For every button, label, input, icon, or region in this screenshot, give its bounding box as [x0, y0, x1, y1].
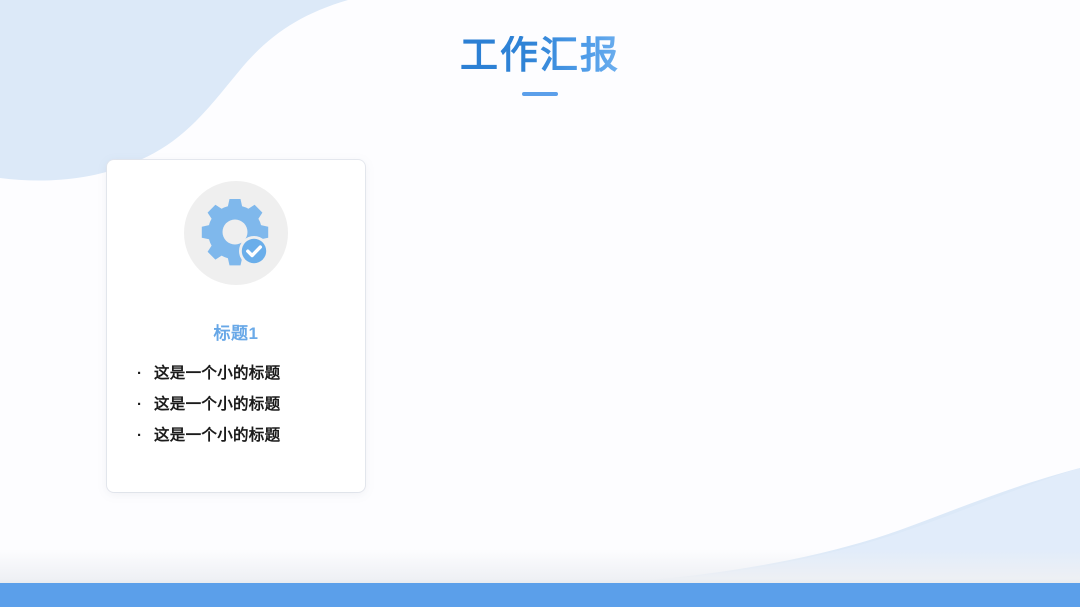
icon-circle-background [184, 181, 288, 285]
list-item: · 这是一个小的标题 [137, 389, 365, 420]
card-bullet-list: · 这是一个小的标题 · 这是一个小的标题 · 这是一个小的标题 [107, 358, 365, 451]
bottom-accent-bar [0, 583, 1080, 607]
list-item: · 这是一个小的标题 [137, 358, 365, 389]
page-title: 工作汇报 [460, 36, 620, 78]
title-underline [522, 92, 558, 96]
list-item-label: 这是一个小的标题 [154, 427, 280, 444]
content-card-1[interactable]: 标题1 · 这是一个小的标题 · 这是一个小的标题 · 这是一个小的标题 [107, 160, 365, 492]
bottom-haze-strip [0, 549, 1080, 583]
list-item-label: 这是一个小的标题 [154, 365, 280, 382]
header: 工作汇报 [0, 36, 1080, 96]
bullet-dot-icon: · [137, 358, 142, 389]
list-item-label: 这是一个小的标题 [154, 396, 280, 413]
slide-canvas: 工作汇报 标题1 · 这是一个小的标题 · [0, 0, 1080, 607]
gear-check-icon [199, 196, 273, 270]
bullet-dot-icon: · [137, 389, 142, 420]
list-item: · 这是一个小的标题 [137, 420, 365, 451]
bullet-dot-icon: · [137, 420, 142, 451]
card-title: 标题1 [107, 319, 365, 344]
